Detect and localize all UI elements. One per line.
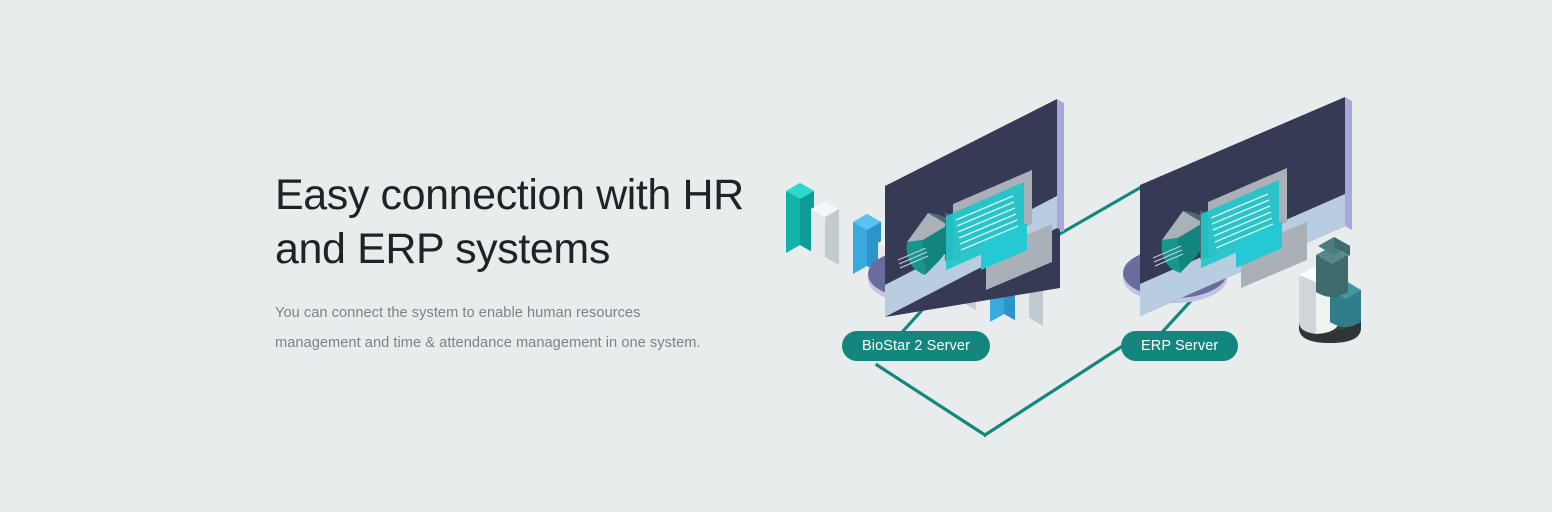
node-label-erp[interactable]: ERP Server [1121,331,1238,361]
connector-biostar-pill-to-junction [877,365,985,435]
bar-item [811,201,839,265]
page-title: Easy connection with HR and ERP systems [275,168,815,276]
hero-text-block: Easy connection with HR and ERP systems … [275,168,815,358]
biostar-monitor-icon [868,99,1064,317]
database-stack-icon [1298,237,1361,343]
connector-junction-to-erp-pill [985,345,1124,435]
hero-section: Easy connection with HR and ERP systems … [0,0,1552,512]
connector-monitor-to-monitor [1058,186,1143,235]
hero-subcopy: You can connect the system to enable hum… [275,276,815,358]
isometric-diagram [760,60,1400,480]
bar-item [786,183,814,253]
node-label-biostar[interactable]: BioStar 2 Server [842,331,990,361]
